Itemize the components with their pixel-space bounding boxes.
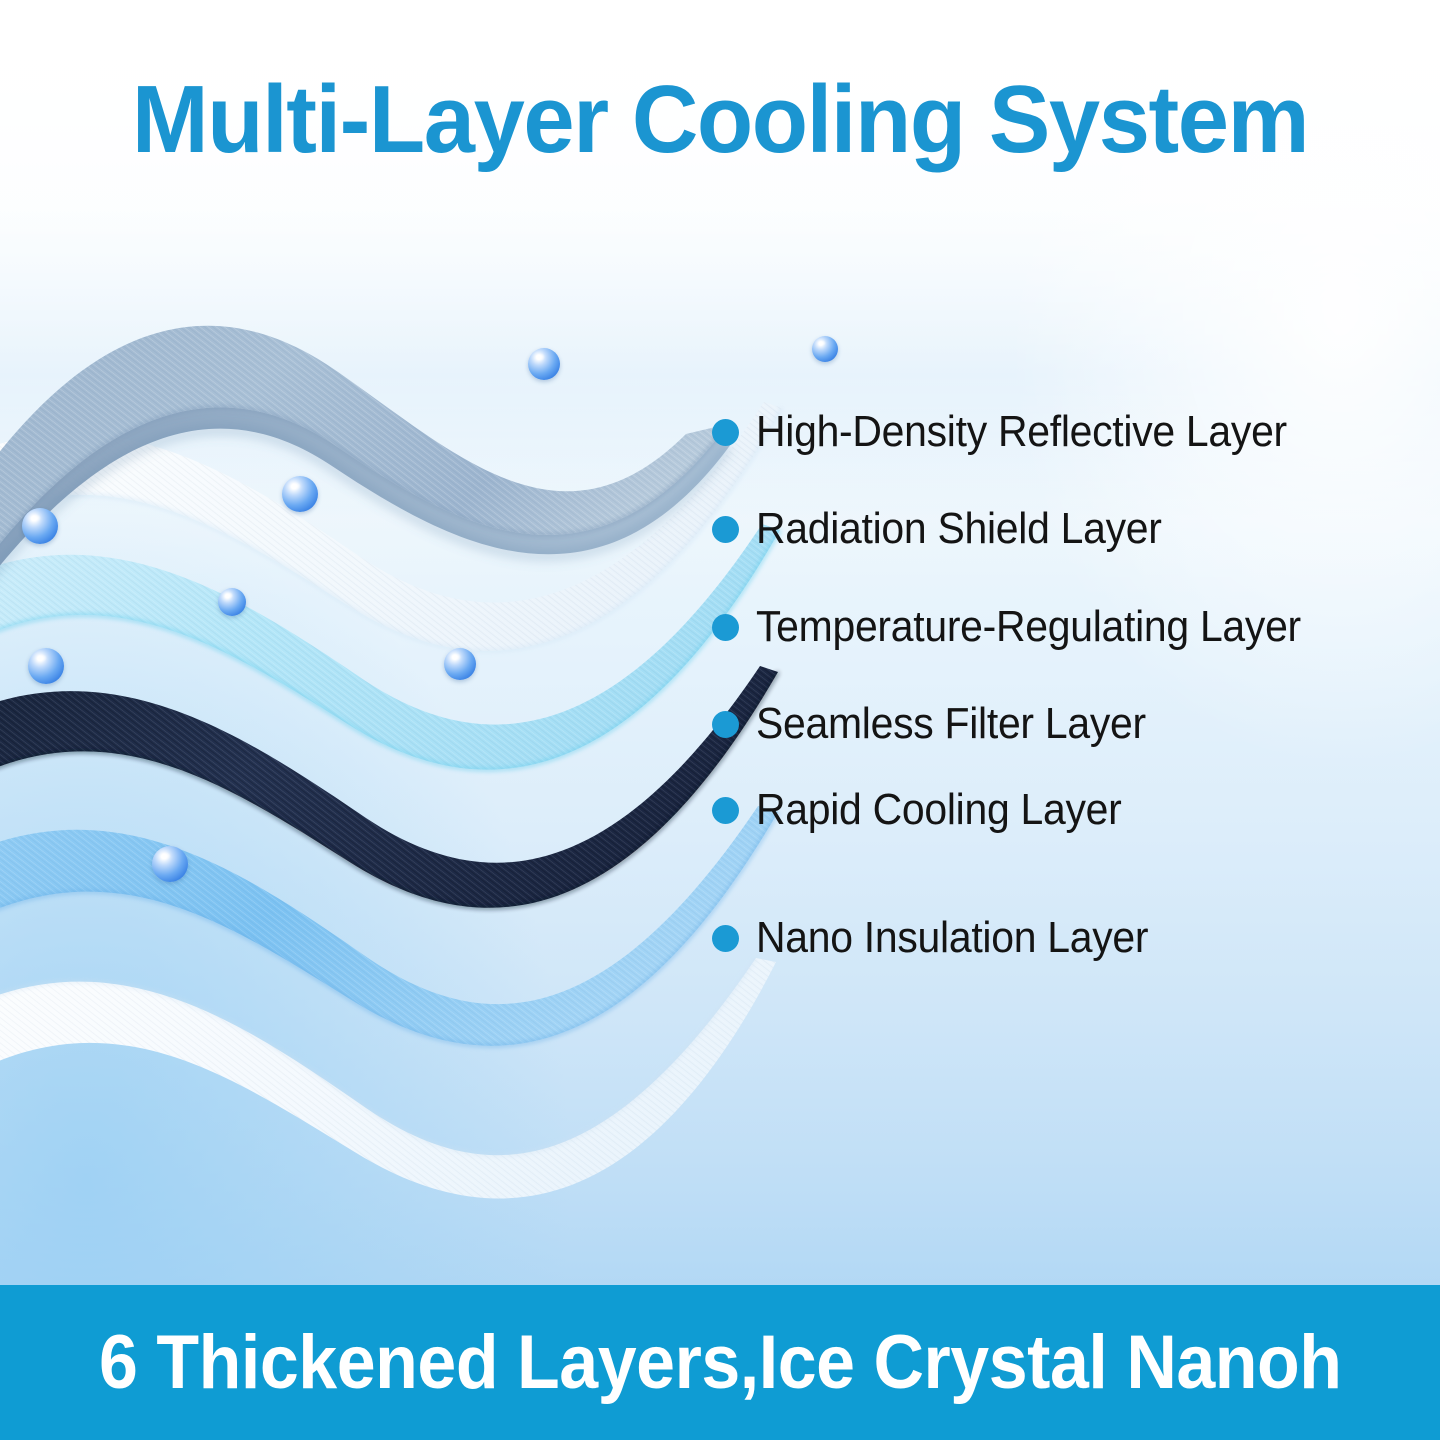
layer-legend-item-radiation-shield[interactable]: Radiation Shield Layer	[712, 507, 1192, 551]
infographic-poster: Multi-Layer Cooling System	[0, 0, 1440, 1440]
layer-legend-label: Seamless Filter Layer	[756, 702, 1146, 746]
layer-legend-label: Radiation Shield Layer	[756, 507, 1162, 551]
layer-legend-item-high-density-reflective[interactable]: High-Density Reflective Layer	[712, 410, 1327, 454]
layer-legend-item-temperature-regulating[interactable]: Temperature-Regulating Layer	[712, 605, 1342, 649]
layer-legend-item-nano-insulation[interactable]: Nano Insulation Layer	[712, 916, 1178, 960]
layer-legend-item-seamless-filter[interactable]: Seamless Filter Layer	[712, 702, 1175, 746]
page-title: Multi-Layer Cooling System	[29, 72, 1411, 168]
layer-legend-item-rapid-cooling[interactable]: Rapid Cooling Layer	[712, 788, 1149, 832]
water-bead-icon	[218, 588, 246, 616]
water-bead-icon	[28, 648, 64, 684]
water-bead-icon	[812, 336, 838, 362]
fabric-layer-illustration	[0, 318, 786, 1208]
bullet-dot-icon	[712, 797, 739, 824]
layer-legend-label: Nano Insulation Layer	[756, 916, 1148, 960]
water-bead-icon	[152, 846, 188, 882]
bullet-dot-icon	[712, 516, 739, 543]
layer-legend-label: High-Density Reflective Layer	[756, 410, 1287, 454]
water-bead-icon	[444, 648, 476, 680]
bullet-dot-icon	[712, 614, 739, 641]
banner-text: 6 Thickened Layers,Ice Crystal Nanoh	[99, 1319, 1342, 1406]
water-bead-icon	[528, 348, 560, 380]
bullet-dot-icon	[712, 711, 739, 738]
bullet-dot-icon	[712, 419, 739, 446]
bullet-dot-icon	[712, 925, 739, 952]
bottom-banner: 6 Thickened Layers,Ice Crystal Nanoh	[0, 1285, 1440, 1440]
layer-legend-label: Rapid Cooling Layer	[756, 788, 1121, 832]
layer-legend-label: Temperature-Regulating Layer	[756, 605, 1301, 649]
water-bead-icon	[22, 508, 58, 544]
water-bead-icon	[282, 476, 318, 512]
